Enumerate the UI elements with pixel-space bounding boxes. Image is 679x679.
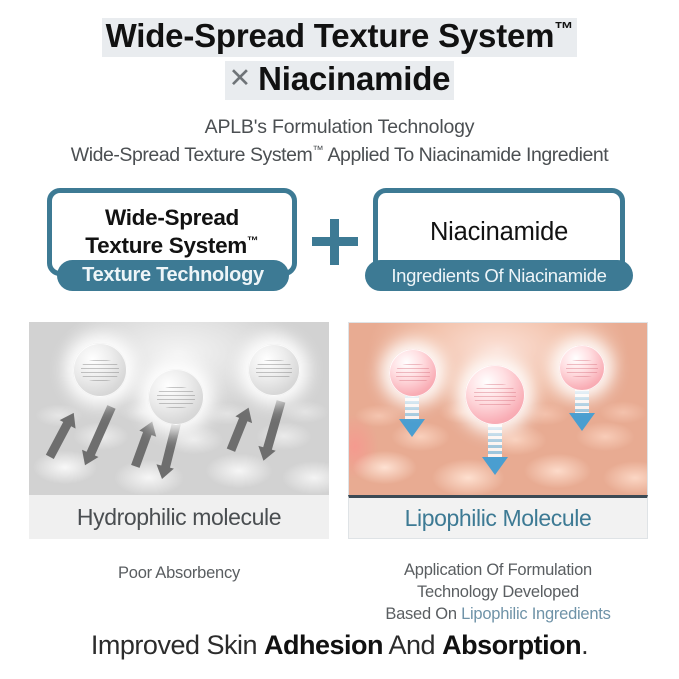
trademark-icon: ™ — [247, 235, 259, 248]
texture-card-line-2: Texture System — [85, 233, 247, 258]
tagline-bold-adhesion: Adhesion — [264, 630, 383, 660]
molecule-texture — [396, 364, 429, 382]
hydrophilic-caption-label: Hydrophilic molecule — [77, 504, 281, 531]
lipophilic-panel: Lipophilic Molecule — [348, 322, 648, 539]
tagline-part-3: . — [581, 630, 588, 660]
subtitle-line-2-suffix: Applied To Niacinamide Ingredient — [324, 144, 609, 166]
lipophilic-subcaption: Application Of Formulation Technology De… — [348, 560, 648, 625]
trademark-icon: ™ — [312, 145, 323, 157]
comparison-panels: Hydrophilic molecule — [0, 322, 679, 550]
title-highlight-1: Wide-Spread Texture System™ — [102, 18, 578, 57]
plus-icon — [312, 219, 358, 265]
plus-icon-vertical-bar — [330, 219, 339, 265]
arrow-head — [569, 413, 595, 431]
molecule-texture — [566, 360, 598, 378]
hydrophilic-subcaption: Poor Absorbency — [29, 563, 329, 585]
hydrophilic-panel-image — [29, 322, 329, 495]
arrow-head — [399, 419, 425, 437]
title-line-1: Wide-Spread Texture System™ — [0, 18, 679, 57]
title-block: Wide-Spread Texture System™ ✕Niacinamide — [0, 0, 679, 100]
subtitle-line-2-prefix: Wide-Spread Texture System — [71, 144, 313, 166]
molecule-texture — [474, 384, 516, 407]
hydrophilic-caption: Hydrophilic molecule — [29, 495, 329, 539]
niacinamide-ingredients-badge-label: Ingredients Of Niacinamide — [391, 265, 606, 287]
lipophilic-subcaption-line-3-prefix: Based On — [385, 605, 461, 623]
lipophilic-ingredients-highlight: Lipophilic Ingredients — [461, 605, 611, 623]
niacinamide-ingredients-badge: Ingredients Of Niacinamide — [365, 260, 633, 291]
trademark-icon: ™ — [554, 19, 573, 40]
lipophilic-subcaption-line-2: Technology Developed — [417, 583, 579, 601]
texture-technology-badge-label: Texture Technology — [82, 264, 264, 287]
multiply-icon: ✕ — [229, 63, 258, 93]
molecule-texture — [157, 387, 196, 409]
niacinamide-card-label: Niacinamide — [430, 218, 568, 247]
lipophilic-panel-image — [348, 322, 648, 495]
subtitle-block: APLB's Formulation Technology Wide-Sprea… — [0, 113, 679, 170]
title-line-2: ✕Niacinamide — [0, 61, 679, 100]
title-secondary-text: Niacinamide — [258, 60, 450, 97]
title-highlight-2: ✕Niacinamide — [225, 61, 455, 100]
subtitle-line-1: APLB's Formulation Technology — [0, 113, 679, 141]
formula-box-row: Wide-Spread Texture System™ Texture Tech… — [0, 188, 679, 310]
texture-card-line-1: Wide-Spread — [105, 205, 239, 230]
tagline-part-2: And — [383, 630, 442, 660]
texture-system-card-label: Wide-Spread Texture System™ — [85, 204, 258, 260]
hydrophilic-panel: Hydrophilic molecule — [29, 322, 329, 539]
bottom-tagline: Improved Skin Adhesion And Absorption. — [0, 630, 679, 661]
title-main-text: Wide-Spread Texture System — [106, 17, 555, 54]
lipophilic-caption: Lipophilic Molecule — [348, 495, 648, 539]
subtitle-line-2: Wide-Spread Texture System™ Applied To N… — [0, 141, 679, 169]
molecule-texture — [81, 360, 118, 381]
texture-technology-badge: Texture Technology — [57, 260, 289, 291]
lipophilic-caption-label: Lipophilic Molecule — [405, 505, 592, 532]
panel-subcaptions: Poor Absorbency Application Of Formulati… — [0, 560, 679, 628]
tagline-bold-absorption: Absorption — [442, 630, 581, 660]
arrow-head — [482, 457, 508, 475]
lipophilic-subcaption-line-1: Application Of Formulation — [404, 561, 592, 579]
molecule-texture — [256, 360, 292, 380]
tagline-part-1: Improved Skin — [91, 630, 264, 660]
infographic-page: Wide-Spread Texture System™ ✕Niacinamide… — [0, 0, 679, 679]
